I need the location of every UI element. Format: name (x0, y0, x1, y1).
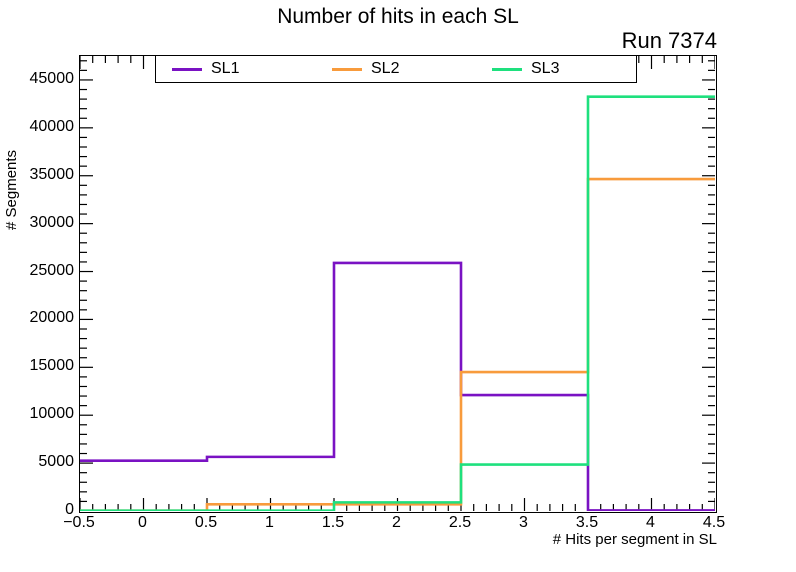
axis-ticks (80, 56, 715, 511)
x-tick-label: 2.5 (430, 515, 490, 531)
x-tick-label: 4.5 (684, 515, 744, 531)
histogram-series (80, 97, 715, 511)
series-line-sl3 (80, 97, 715, 511)
legend[interactable]: SL1SL2SL3 (155, 55, 637, 83)
y-tick-label: 40000 (30, 119, 75, 135)
y-tick-label: 10000 (30, 406, 75, 422)
x-tick-label: 1 (240, 515, 300, 531)
legend-label: SL3 (531, 61, 559, 77)
x-axis-title: # Hits per segment in SL (553, 530, 717, 550)
y-axis-title: # Segments (2, 204, 22, 230)
legend-entry-sl1[interactable]: SL1 (156, 61, 316, 77)
run-annotation: Run 7374 (622, 28, 717, 54)
chart-title: Number of hits in each SL (0, 4, 796, 30)
y-tick-label: 25000 (30, 263, 75, 279)
chart-canvas: Number of hits in each SL Run 7374 # Seg… (0, 0, 796, 572)
legend-entry-sl3[interactable]: SL3 (476, 61, 636, 77)
x-tick-label: 3 (494, 515, 554, 531)
legend-swatch-icon (332, 68, 362, 71)
x-tick-label: 1.5 (303, 515, 363, 531)
legend-label: SL2 (371, 61, 399, 77)
x-tick-label: 0.5 (176, 515, 236, 531)
plot-area (79, 55, 717, 513)
y-tick-label: 45000 (30, 71, 75, 87)
legend-swatch-icon (492, 68, 522, 71)
y-tick-label: 20000 (30, 310, 75, 326)
series-line-sl1 (80, 263, 715, 511)
y-tick-label: 15000 (30, 358, 75, 374)
legend-entry-sl2[interactable]: SL2 (316, 61, 476, 77)
x-tick-label: 3.5 (557, 515, 617, 531)
x-tick-label: 4 (621, 515, 681, 531)
x-tick-label: 2 (367, 515, 427, 531)
x-tick-label: −0.5 (49, 515, 109, 531)
x-tick-label: 0 (113, 515, 173, 531)
histogram-svg (80, 56, 715, 511)
y-tick-label: 5000 (38, 454, 74, 470)
legend-label: SL1 (211, 61, 239, 77)
y-tick-label: 35000 (30, 167, 75, 183)
y-tick-label: 30000 (30, 215, 75, 231)
legend-swatch-icon (172, 68, 202, 71)
